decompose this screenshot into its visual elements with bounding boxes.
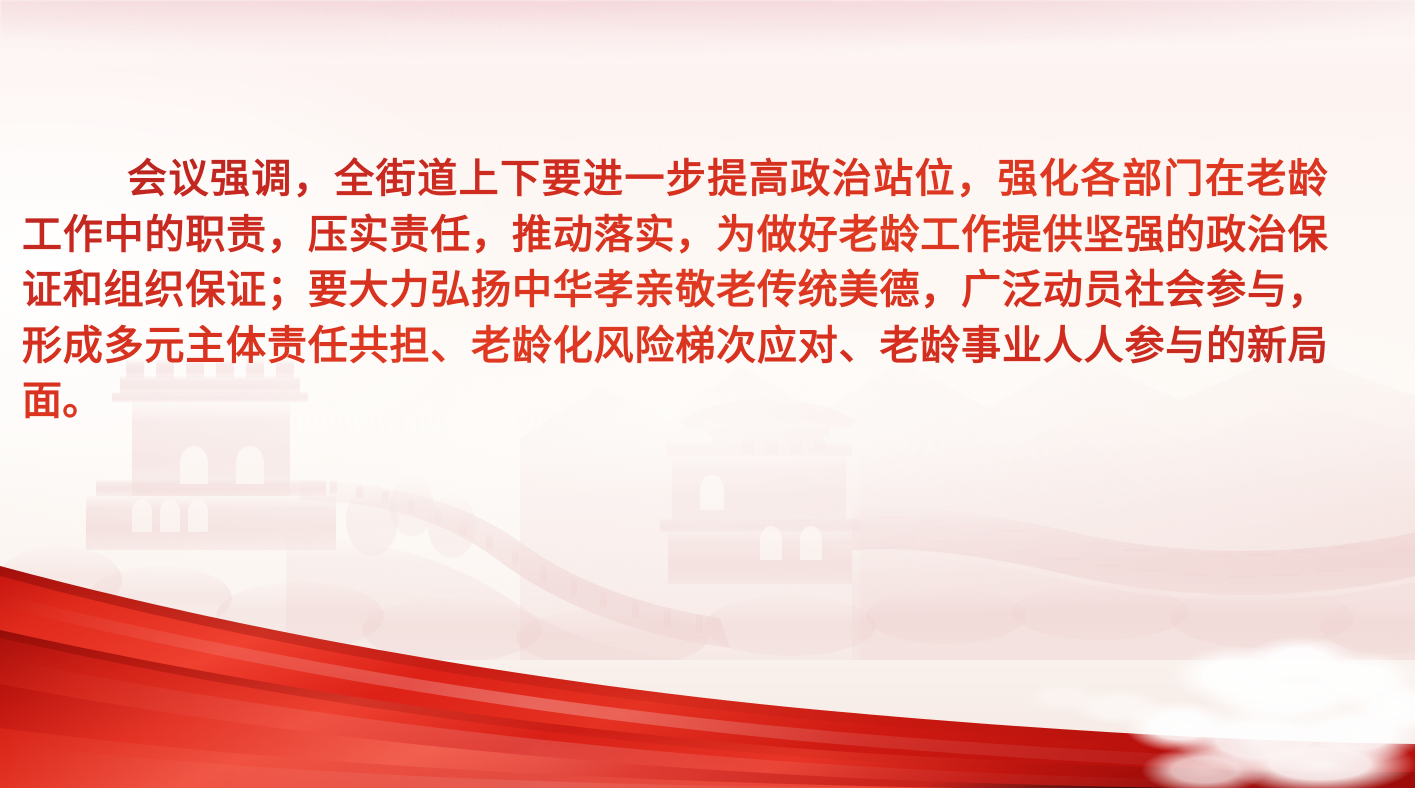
slide-canvas: 会议强调，全街道上下要进一步提高政治站位，强化各部门在老龄工作中的职责，压实责任… <box>0 0 1415 788</box>
body-paragraph: 会议强调，全街道上下要进一步提高政治站位，强化各部门在老龄工作中的职责，压实责任… <box>22 152 1328 430</box>
red-silk-ribbon <box>0 558 1415 788</box>
